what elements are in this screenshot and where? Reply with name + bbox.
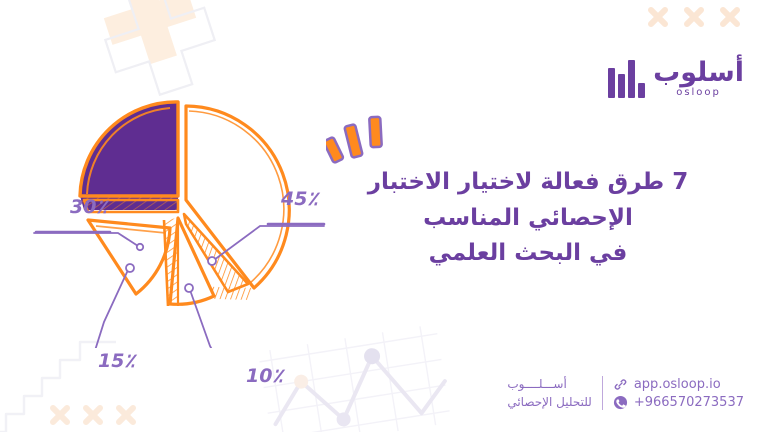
link-icon [613,377,628,392]
pie-label-10: 10٪ [246,365,283,387]
whatsapp-icon [613,395,628,410]
cross-marks-top-right [651,10,737,24]
pie-label-30: 30٪ [70,196,107,218]
title-line-1: 7 طرق فعالة لاختيار الاختبار الإحصائي ال… [318,165,738,236]
leader-dot-10 [185,284,193,292]
leader-dot-30 [137,244,143,250]
footer-website[interactable]: app.osloop.io [613,377,744,392]
footer-brand-line-1: أســـلــــوب [507,375,592,394]
title-line-2: في البحث العلمي [318,236,738,272]
leader-15 [62,270,128,348]
logo-bar-4 [608,68,615,98]
website-text: app.osloop.io [634,377,721,392]
footer-brand: أســـلــــوب للتحليل الإحصائي [497,375,592,412]
footer-contact: app.osloop.io +966570273537 [613,377,744,410]
pie-chart-drawing [18,78,338,348]
pie-label-45: 45٪ [281,188,318,210]
logo-name-english: osloop [676,88,721,98]
plus-filled-decor [95,0,206,73]
logo-name-arabic: أسلوب [653,59,744,86]
logo-bar-2 [628,60,635,98]
page-title: 7 طرق فعالة لاختيار الاختبار الإحصائي ال… [318,165,738,272]
footer: app.osloop.io +966570273537 أســـلــــوب… [497,375,744,412]
footer-brand-line-2: للتحليل الإحصائي [507,393,592,412]
logo-text: أسلوب osloop [653,59,744,98]
bar-chart-icon [608,58,645,98]
social-card: 30٪ 45٪ 15٪ 10٪ أسلوب osloop 7 طرق فعالة… [0,0,768,432]
footer-phone[interactable]: +966570273537 [613,395,744,410]
pie-label-15: 15٪ [98,350,135,372]
osloop-logo[interactable]: أسلوب osloop [608,58,744,98]
leader-dot-15 [126,264,134,272]
phone-text: +966570273537 [634,395,744,410]
logo-bar-3 [618,74,625,98]
footer-divider [602,376,603,410]
logo-bar-1 [638,83,645,98]
leader-dot-45 [208,257,216,265]
cross-marks-bottom-left [53,408,133,422]
pie-chart: 30٪ 45٪ 15٪ 10٪ [18,78,338,348]
